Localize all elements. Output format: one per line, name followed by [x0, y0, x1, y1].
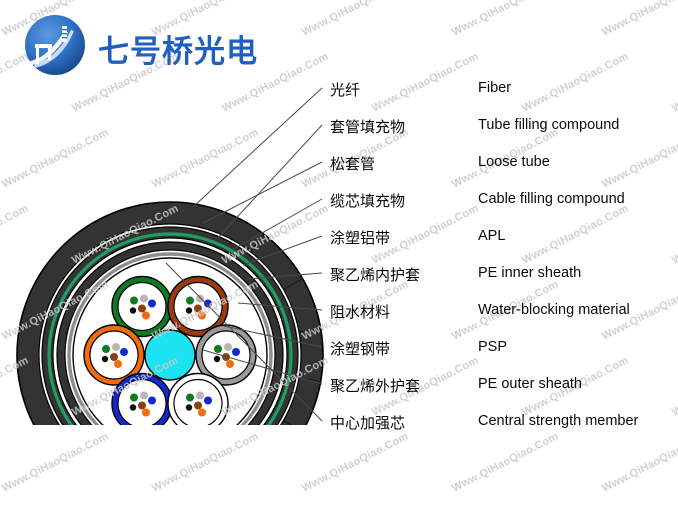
label-cn: 套管填充物 [330, 116, 405, 137]
label-row: 涂塑钢带PSP [330, 338, 678, 360]
label-row: 缆芯填充物Cable filling compound [330, 190, 678, 212]
label-en: Central strength member [478, 413, 638, 429]
brand-header: 七号桥光电 [24, 12, 324, 78]
label-en: Tube filling compound [478, 117, 619, 133]
label-en: Fiber [478, 80, 511, 96]
label-en: Loose tube [478, 154, 550, 170]
label-cn: 聚乙烯外护套 [330, 375, 420, 396]
label-row: 涂塑铝带APL [330, 227, 678, 249]
label-cn: 阻水材料 [330, 301, 390, 322]
label-row: 阻水材料Water-blocking material [330, 301, 678, 323]
label-row: 中心加强芯Central strength member [330, 412, 678, 434]
label-en: APL [478, 228, 505, 244]
label-cn: 聚乙烯内护套 [330, 264, 420, 285]
label-cn: 光纤 [330, 79, 360, 100]
label-cn: 缆芯填充物 [330, 190, 405, 211]
brand-name: 七号桥光电 [98, 26, 258, 71]
label-row: 聚乙烯内护套PE inner sheath [330, 264, 678, 286]
label-cn: 涂塑铝带 [330, 227, 390, 248]
label-row: 松套管Loose tube [330, 153, 678, 175]
label-row: 光纤Fiber [330, 79, 678, 101]
label-en: Cable filling compound [478, 191, 625, 207]
cable-diagram-page: Www.QiHaoQiao.ComWww.QiHaoQiao.ComWww.Qi… [0, 0, 678, 505]
label-en: PE inner sheath [478, 265, 581, 281]
label-row: 聚乙烯外护套PE outer sheath [330, 375, 678, 397]
label-en: PE outer sheath [478, 376, 582, 392]
label-en: PSP [478, 339, 507, 355]
label-cn: 松套管 [330, 153, 375, 174]
bridge-logo-icon [24, 14, 86, 76]
label-row: 套管填充物Tube filling compound [330, 116, 678, 138]
label-cn: 中心加强芯 [330, 412, 405, 433]
label-en: Water-blocking material [478, 302, 630, 318]
label-cn: 涂塑钢带 [330, 338, 390, 359]
